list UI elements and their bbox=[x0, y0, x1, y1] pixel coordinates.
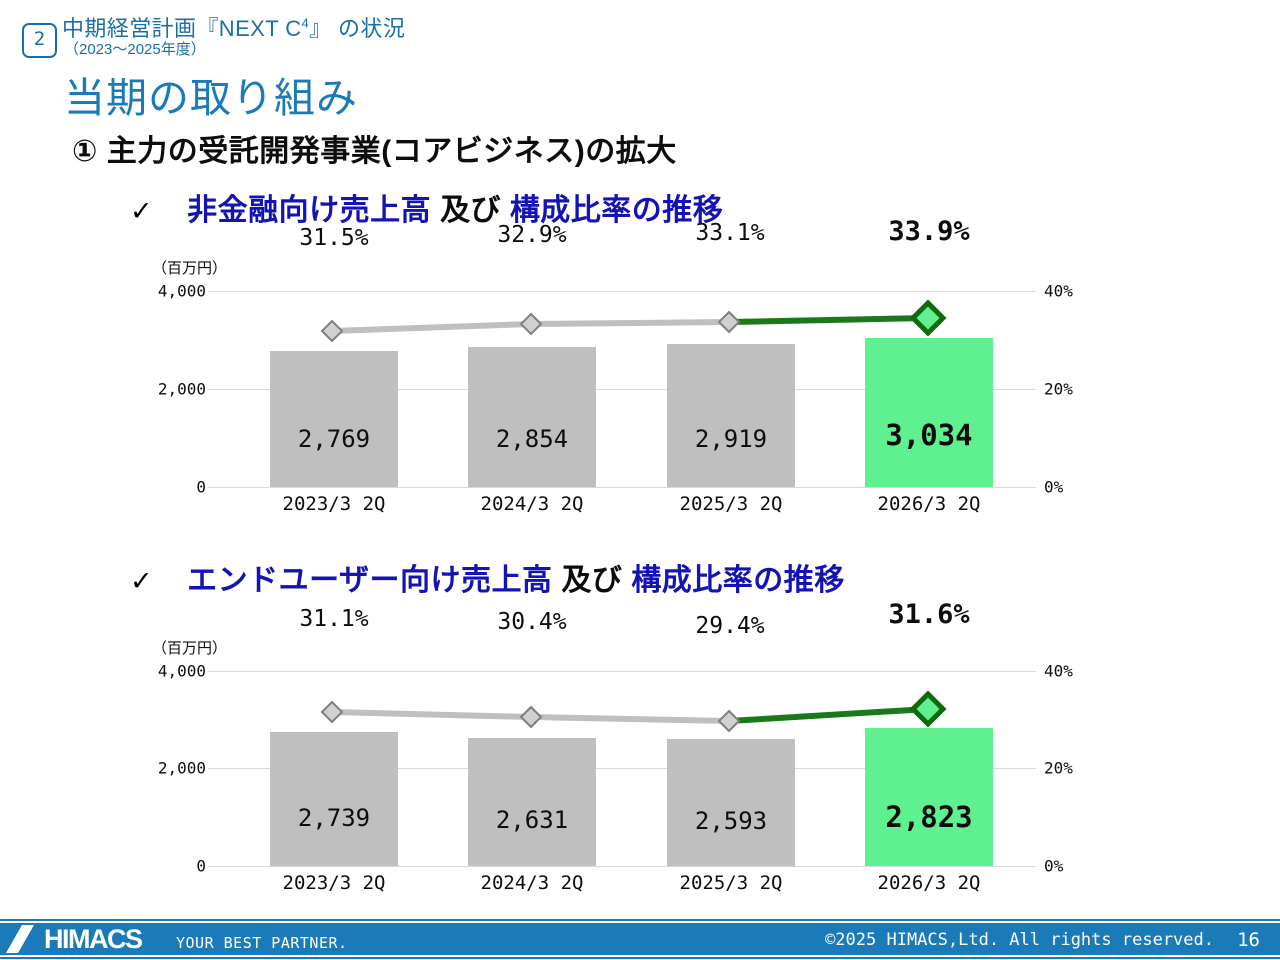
chart-1-heading-part2 bbox=[431, 194, 440, 227]
gridtick-left-4000 bbox=[208, 671, 222, 672]
gridtick-right-0 bbox=[1022, 866, 1036, 867]
gridtick-right-40 bbox=[1022, 291, 1036, 292]
pct-label-2024: 32.9% bbox=[497, 222, 566, 248]
bar-2023[interactable]: 2,769 bbox=[270, 351, 398, 487]
plan-title-superscript: 4 bbox=[301, 16, 309, 31]
chart-section-1: ✓非金融向け売上高 及び 構成比率の推移 （百万円） 4,000 2,000 0… bbox=[0, 185, 1280, 525]
pct-label-2026: 31.6% bbox=[888, 599, 969, 630]
chart-2-heading-part3: 構成比率の推移 bbox=[631, 564, 845, 597]
gridtick-left-0 bbox=[208, 866, 222, 867]
y2-axis-tick-20: 20% bbox=[1044, 380, 1073, 399]
x-axis-tick-2025: 2025/3 2Q bbox=[680, 872, 783, 894]
page-number: 16 bbox=[1237, 929, 1260, 951]
gridtick-right-20 bbox=[1022, 389, 1036, 390]
gridline-0 bbox=[222, 866, 1022, 867]
x-axis-tick-2025: 2025/3 2Q bbox=[680, 493, 783, 515]
pct-label-2024: 30.4% bbox=[497, 609, 566, 635]
pct-label-2023: 31.5% bbox=[299, 225, 368, 251]
bar-2023[interactable]: 2,739 bbox=[270, 732, 398, 866]
bar-value-2023: 2,769 bbox=[270, 425, 398, 453]
bar-value-2023: 2,739 bbox=[270, 804, 398, 832]
y-axis-tick-2000: 2,000 bbox=[158, 759, 206, 778]
pct-label-2025: 29.4% bbox=[695, 613, 764, 639]
pct-label-2025: 33.1% bbox=[695, 220, 764, 246]
gridline-4000 bbox=[222, 291, 1022, 292]
chart-2-plot-area: 4,000 2,000 0 40% 20% 0% 2,739 2,631 2,5… bbox=[222, 671, 1022, 866]
x-axis-tick-2024: 2024/3 2Q bbox=[481, 493, 584, 515]
y-axis-tick-0: 0 bbox=[196, 857, 206, 876]
section-heading: ① 主力の受託開発事業(コアビジネス)の拡大 bbox=[72, 126, 677, 170]
bar-value-2025: 2,593 bbox=[667, 807, 795, 835]
gridtick-right-40 bbox=[1022, 671, 1036, 672]
slide-header: 2 中期経営計画『NEXT C4』 の状況 （2023～2025年度） 当期の取… bbox=[0, 0, 1280, 125]
check-icon: ✓ bbox=[130, 566, 153, 596]
gridtick-left-0 bbox=[208, 487, 222, 488]
plan-title-suffix: 』 の状況 bbox=[309, 16, 405, 41]
page-badge: 2 bbox=[22, 23, 57, 58]
gridtick-right-20 bbox=[1022, 768, 1036, 769]
slide-footer: HIMACS YOUR BEST PARTNER. ©2025 HIMACS,L… bbox=[0, 915, 1280, 960]
footer-rule-bottom bbox=[0, 957, 1280, 959]
y2-axis-tick-0: 0% bbox=[1044, 857, 1063, 876]
bar-value-2026: 2,823 bbox=[865, 800, 993, 834]
gridline-4000 bbox=[222, 671, 1022, 672]
chart-2-heading-spacer bbox=[622, 564, 631, 597]
check-icon: ✓ bbox=[130, 196, 153, 226]
gridtick-right-0 bbox=[1022, 487, 1036, 488]
gridtick-left-2000 bbox=[208, 389, 222, 390]
gridtick-left-4000 bbox=[208, 291, 222, 292]
bar-2026[interactable]: 3,034 bbox=[865, 338, 993, 487]
y-axis-tick-0: 0 bbox=[196, 478, 206, 497]
y2-axis-tick-20: 20% bbox=[1044, 759, 1073, 778]
chart-2-heading-part1: エンドユーザー向け売上高 bbox=[187, 564, 552, 597]
chart-1-plot-area: 4,000 2,000 0 40% 20% 0% 2,769 2,854 2,9… bbox=[222, 291, 1022, 487]
page-title: 当期の取り組み bbox=[64, 64, 358, 124]
pct-label-2023: 31.1% bbox=[299, 606, 368, 632]
copyright-text: ©2025 HIMACS,Ltd. All rights reserved. bbox=[825, 930, 1214, 950]
bar-2025[interactable]: 2,919 bbox=[667, 344, 795, 487]
x-axis-tick-2024: 2024/3 2Q bbox=[481, 872, 584, 894]
bar-value-2026: 3,034 bbox=[865, 418, 993, 452]
chart-1-heading-conj: 及び bbox=[440, 194, 501, 227]
chart-1-unit-label: （百万円） bbox=[152, 257, 227, 278]
gridline-0 bbox=[222, 487, 1022, 488]
bar-2024[interactable]: 2,854 bbox=[468, 347, 596, 487]
x-axis-tick-2023: 2023/3 2Q bbox=[283, 493, 386, 515]
y2-axis-tick-40: 40% bbox=[1044, 282, 1073, 301]
chart-section-2: ✓エンドユーザー向け売上高 及び 構成比率の推移 （百万円） 4,000 2,0… bbox=[0, 555, 1280, 915]
y2-axis-tick-40: 40% bbox=[1044, 662, 1073, 681]
y-axis-tick-4000: 4,000 bbox=[158, 282, 206, 301]
brand-tagline: YOUR BEST PARTNER. bbox=[176, 934, 348, 952]
y-axis-tick-4000: 4,000 bbox=[158, 662, 206, 681]
chart-2-unit-label: （百万円） bbox=[152, 637, 227, 658]
bar-2025[interactable]: 2,593 bbox=[667, 739, 795, 866]
bar-value-2024: 2,854 bbox=[468, 425, 596, 453]
chart-1-heading: ✓非金融向け売上高 及び 構成比率の推移 bbox=[130, 185, 723, 229]
footer-rule-top bbox=[0, 919, 1280, 921]
x-axis-tick-2026: 2026/3 2Q bbox=[878, 872, 981, 894]
y-axis-tick-2000: 2,000 bbox=[158, 380, 206, 399]
bar-value-2025: 2,919 bbox=[667, 425, 795, 453]
logo-slash-icon bbox=[6, 923, 36, 955]
chart-1-heading-part1: 非金融向け売上高 bbox=[187, 194, 431, 227]
bar-2024[interactable]: 2,631 bbox=[468, 738, 596, 866]
chart-2-heading: ✓エンドユーザー向け売上高 及び 構成比率の推移 bbox=[130, 555, 845, 599]
y2-axis-tick-0: 0% bbox=[1044, 478, 1063, 497]
x-axis-tick-2023: 2023/3 2Q bbox=[283, 872, 386, 894]
bar-2026[interactable]: 2,823 bbox=[865, 728, 993, 866]
brand-logo-text: HIMACS bbox=[44, 924, 142, 955]
bar-value-2024: 2,631 bbox=[468, 806, 596, 834]
gridtick-left-2000 bbox=[208, 768, 222, 769]
plan-period: （2023～2025年度） bbox=[64, 38, 206, 59]
chart-2-heading-conj: 及び bbox=[561, 564, 622, 597]
x-axis-tick-2026: 2026/3 2Q bbox=[878, 493, 981, 515]
pct-label-2026: 33.9% bbox=[888, 216, 969, 247]
